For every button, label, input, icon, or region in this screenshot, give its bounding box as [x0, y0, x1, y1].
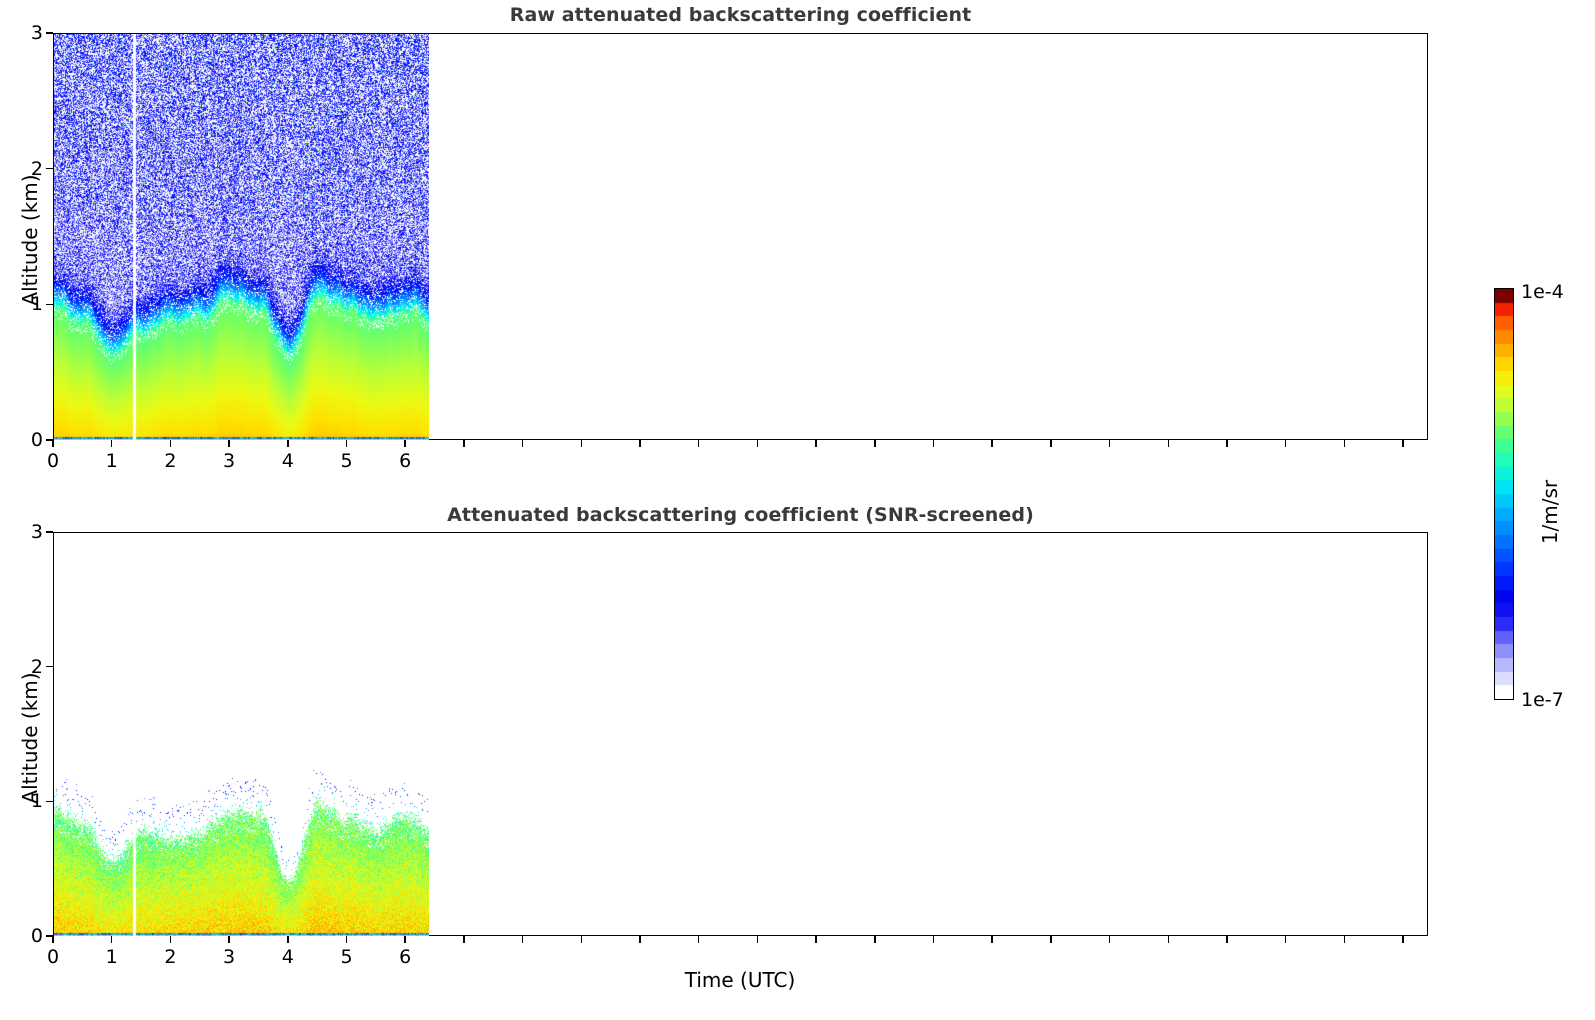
ytick-mark [46, 666, 53, 668]
xtick-mark [522, 936, 524, 943]
ytick-label-0: 0 [11, 429, 43, 451]
xtick-mark [111, 440, 113, 447]
xtick-mark [287, 440, 289, 447]
xtick-mark [404, 440, 406, 447]
xtick-mark [1402, 936, 1404, 943]
xtick-label-4: 4 [282, 946, 294, 968]
xtick-mark [1226, 440, 1228, 447]
xtick-mark [991, 936, 993, 943]
ytick-label-3: 3 [11, 22, 43, 44]
xtick-mark [1168, 440, 1170, 447]
xtick-mark [1285, 440, 1287, 447]
xtick-mark [346, 440, 348, 447]
xtick-mark [581, 440, 583, 447]
x-axis-label: Time (UTC) [685, 968, 796, 992]
xtick-mark [522, 440, 524, 447]
colorbar-tick-min: 1e-7 [1521, 689, 1564, 711]
xtick-mark [1109, 936, 1111, 943]
xtick-label-3: 3 [223, 450, 235, 472]
xtick-label-1: 1 [106, 450, 118, 472]
xtick-mark [111, 936, 113, 943]
xtick-mark [698, 440, 700, 447]
xtick-mark [52, 936, 54, 943]
xtick-label-4: 4 [282, 450, 294, 472]
xtick-mark [874, 936, 876, 943]
xtick-mark [463, 440, 465, 447]
xtick-label-5: 5 [340, 450, 352, 472]
xtick-mark [933, 440, 935, 447]
xtick-mark [698, 936, 700, 943]
xtick-mark [1050, 440, 1052, 447]
ytick-label-0: 0 [11, 925, 43, 947]
xtick-mark [287, 936, 289, 943]
xtick-label-1: 1 [106, 946, 118, 968]
xtick-mark [815, 440, 817, 447]
xtick-mark [815, 936, 817, 943]
xtick-mark [1050, 936, 1052, 943]
xtick-mark [933, 936, 935, 943]
panel-screened-title: Attenuated backscattering coefficient (S… [53, 504, 1428, 526]
xtick-mark [991, 440, 993, 447]
xtick-mark [1109, 440, 1111, 447]
xtick-label-0: 0 [47, 450, 59, 472]
xtick-mark [170, 936, 172, 943]
ytick-label-1: 1 [11, 790, 43, 812]
xtick-mark [1168, 936, 1170, 943]
xtick-mark [1226, 936, 1228, 943]
xtick-mark [170, 440, 172, 447]
xtick-mark [346, 936, 348, 943]
xtick-mark [1344, 936, 1346, 943]
xtick-mark [1344, 440, 1346, 447]
xtick-mark [757, 440, 759, 447]
ytick-label-3: 3 [11, 521, 43, 543]
xtick-label-6: 6 [399, 946, 411, 968]
xtick-mark [639, 936, 641, 943]
xtick-mark [404, 936, 406, 943]
panel-raw-title: Raw attenuated backscattering coefficien… [53, 4, 1428, 26]
xtick-label-3: 3 [223, 946, 235, 968]
xtick-mark [874, 440, 876, 447]
xtick-mark [463, 936, 465, 943]
xtick-mark [228, 936, 230, 943]
ytick-mark [46, 801, 53, 803]
xtick-label-6: 6 [399, 450, 411, 472]
heatmap-raw [54, 34, 429, 440]
xtick-mark [1402, 440, 1404, 447]
heatmap-screened [54, 533, 429, 936]
xtick-label-2: 2 [164, 450, 176, 472]
ytick-mark [46, 32, 53, 34]
ytick-mark [46, 168, 53, 170]
colorbar-tick-max: 1e-4 [1521, 281, 1564, 303]
xtick-mark [639, 440, 641, 447]
xtick-mark [581, 936, 583, 943]
xtick-mark [228, 440, 230, 447]
ytick-mark [46, 304, 53, 306]
colorbar-label: 1/m/sr [1538, 432, 1562, 592]
xtick-mark [52, 440, 54, 447]
xtick-label-0: 0 [47, 946, 59, 968]
xtick-mark [1285, 936, 1287, 943]
colorbar-gradient [1495, 289, 1513, 699]
xtick-label-2: 2 [164, 946, 176, 968]
ytick-label-1: 1 [11, 293, 43, 315]
xtick-mark [757, 936, 759, 943]
ytick-label-2: 2 [11, 656, 43, 678]
ytick-label-2: 2 [11, 158, 43, 180]
xtick-label-5: 5 [340, 946, 352, 968]
ytick-mark [46, 531, 53, 533]
